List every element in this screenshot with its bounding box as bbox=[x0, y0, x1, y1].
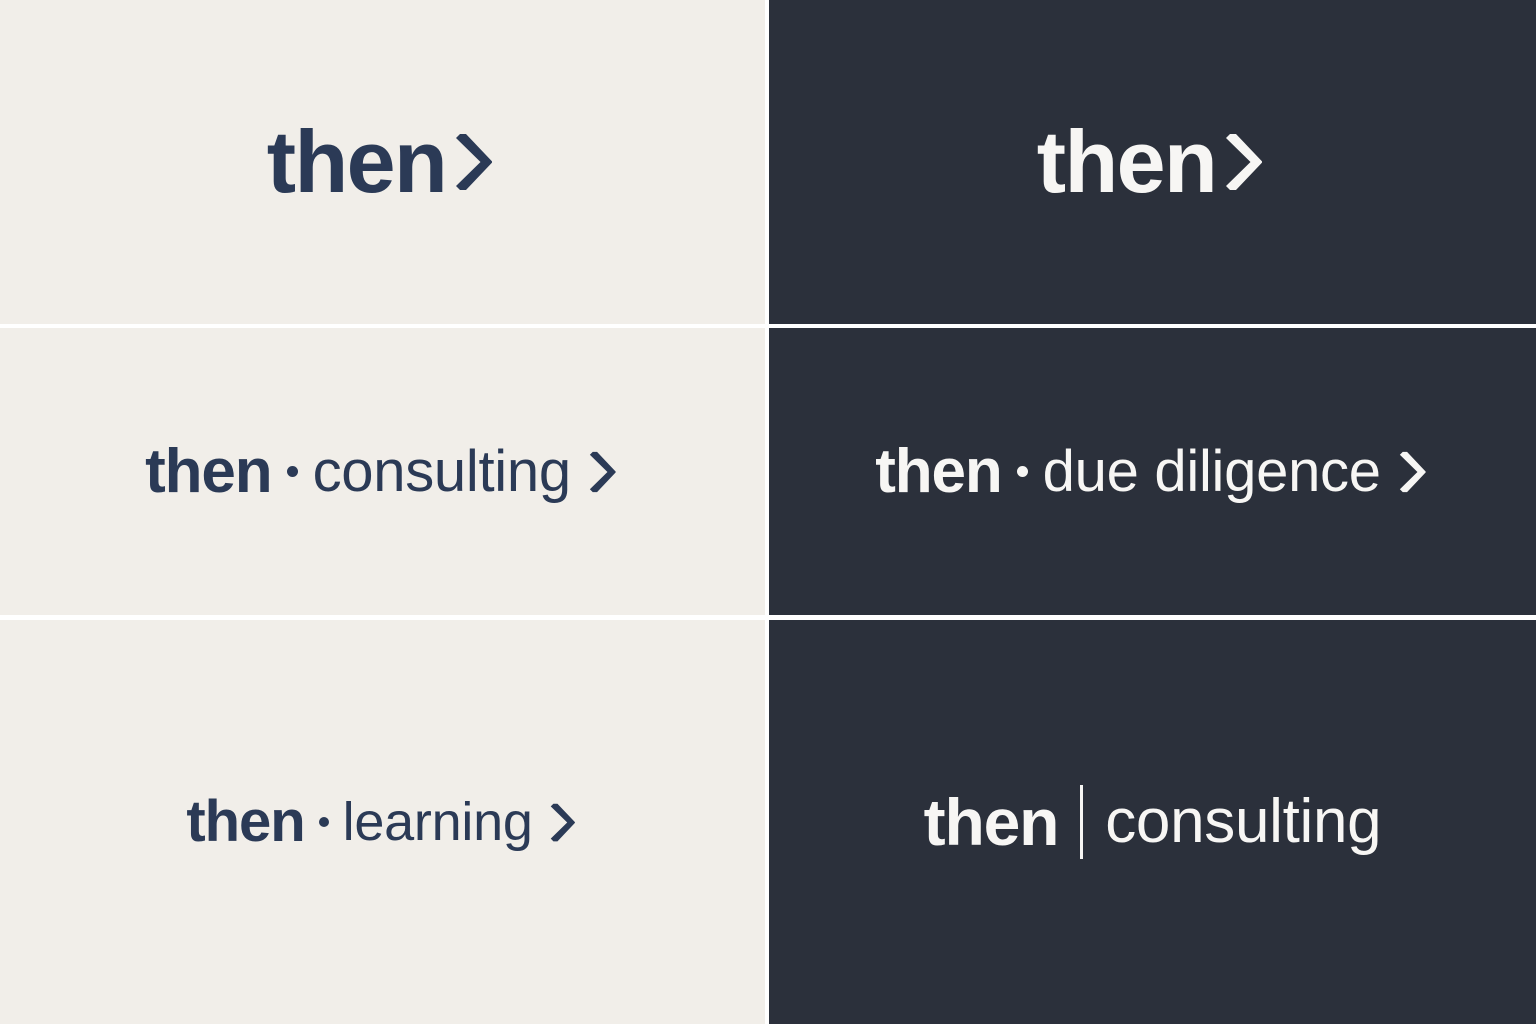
logo-lockup: then bbox=[267, 118, 498, 206]
dot-separator-icon bbox=[287, 466, 298, 477]
descriptor-consulting: consulting bbox=[1105, 791, 1381, 853]
wordmark-then: then bbox=[875, 441, 1001, 503]
chevron-right-icon bbox=[452, 130, 498, 194]
chevron-right-icon bbox=[1222, 130, 1268, 194]
logo-lockup: then bbox=[1037, 118, 1268, 206]
logo-lockup: then consulting bbox=[145, 441, 620, 503]
chevron-right-icon bbox=[548, 801, 579, 844]
dot-separator-icon bbox=[319, 817, 329, 827]
descriptor-due-diligence: due diligence bbox=[1043, 443, 1381, 501]
descriptor-learning: learning bbox=[343, 795, 533, 849]
logo-lockup: then learning bbox=[186, 793, 578, 851]
pipe-separator-icon bbox=[1080, 785, 1083, 859]
chevron-right-icon bbox=[1397, 449, 1430, 495]
logo-lockup: then due diligence bbox=[875, 441, 1429, 503]
wordmark-then: then bbox=[186, 793, 304, 851]
dot-separator-icon bbox=[1017, 466, 1028, 477]
logo-cell-due-diligence-dark[interactable]: then due diligence bbox=[769, 328, 1536, 615]
logo-cell-primary-dark[interactable]: then bbox=[769, 0, 1536, 324]
logo-cell-primary-light[interactable]: then bbox=[0, 0, 765, 324]
logo-sheet: then then then consulting bbox=[0, 0, 1536, 1024]
logo-cell-consulting-light[interactable]: then consulting bbox=[0, 328, 765, 615]
logo-cell-consulting-pipe-dark[interactable]: then consulting bbox=[769, 620, 1536, 1024]
logo-cell-learning-light[interactable]: then learning bbox=[0, 620, 765, 1024]
descriptor-consulting: consulting bbox=[313, 443, 571, 501]
wordmark-then: then bbox=[145, 441, 271, 503]
wordmark-then: then bbox=[1037, 118, 1216, 206]
wordmark-then: then bbox=[924, 789, 1059, 855]
wordmark-then: then bbox=[267, 118, 446, 206]
chevron-right-icon bbox=[587, 449, 620, 495]
logo-lockup: then consulting bbox=[924, 785, 1382, 859]
